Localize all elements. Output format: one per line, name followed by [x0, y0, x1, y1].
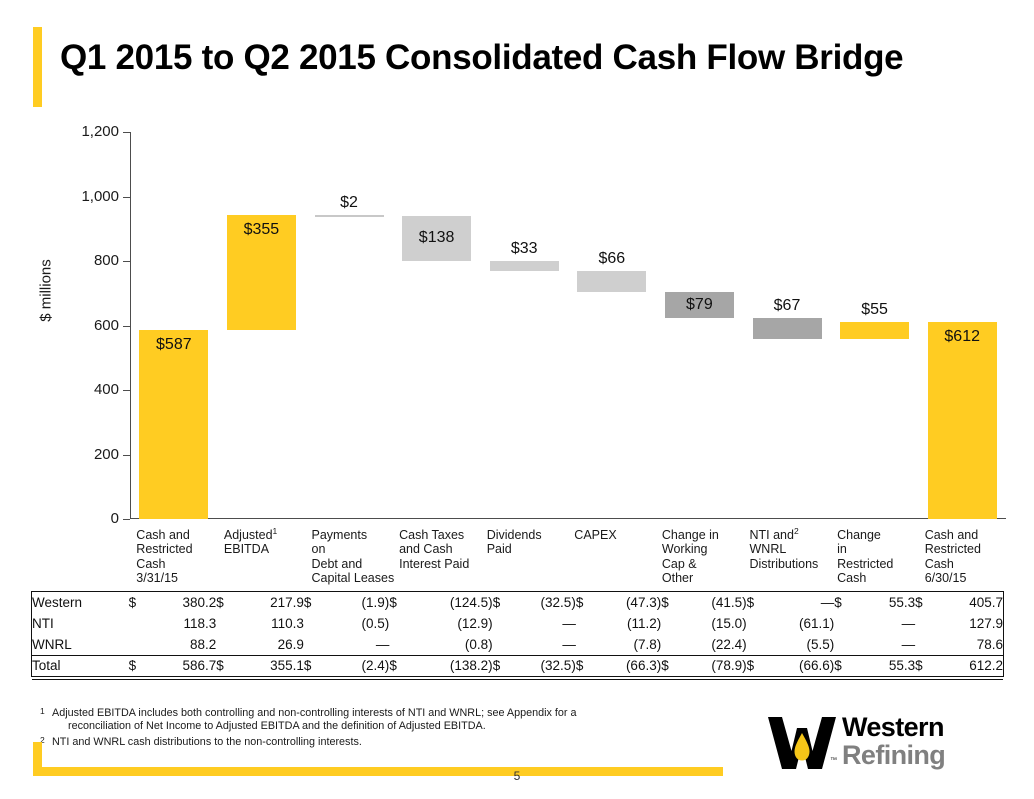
y-axis-tick — [123, 197, 130, 198]
y-axis-tick — [123, 261, 130, 262]
y-axis-tick-label: 600 — [55, 317, 119, 334]
category-label-line: Interest Paid — [399, 557, 493, 571]
category-label-line: Working — [662, 542, 756, 556]
y-axis-tick — [123, 390, 130, 391]
category-label-line: Dividends — [487, 528, 581, 542]
table-cell-value: (5.5) — [762, 634, 834, 655]
table-cell-value: 355.1 — [232, 655, 304, 676]
chart-bar-value-label: $612 — [918, 328, 1007, 346]
x-axis-category-label: PaymentsonDebt andCapital Leases — [312, 528, 406, 586]
western-w-mark-icon — [766, 715, 838, 771]
category-label-line: Other — [662, 571, 756, 585]
x-axis-category-label: Cash Taxesand CashInterest Paid — [399, 528, 493, 571]
trademark-symbol: ™ — [830, 757, 837, 764]
footnote-line: Adjusted EBITDA includes both controllin… — [52, 707, 738, 720]
table-cell-value: 612.2 — [931, 655, 1003, 676]
chart-bar-value-label: $79 — [655, 296, 744, 314]
table-cell-value: (0.8) — [405, 634, 493, 655]
table-currency-symbol — [834, 613, 850, 634]
table-currency-symbol — [747, 613, 763, 634]
table-cell-value: 405.7 — [931, 592, 1003, 613]
table-cell-value: — — [320, 634, 390, 655]
category-label-line: Paid — [487, 542, 581, 556]
footnote-line: reconciliation of Net Income to Adjusted… — [52, 720, 738, 733]
table-currency-symbol: $ — [216, 592, 232, 613]
table-total-double-rule — [32, 679, 1003, 680]
table-currency-symbol — [129, 613, 145, 634]
footnote-marker: 1 — [40, 705, 45, 718]
table-currency-symbol — [389, 634, 405, 655]
x-axis-category-label: Cash andRestrictedCash3/31/15 — [136, 528, 230, 586]
chart-bar-value-label: $66 — [567, 250, 656, 268]
y-axis-title: $ millions — [38, 231, 55, 351]
x-axis-category-label: DividendsPaid — [487, 528, 581, 557]
category-label-line: Debt and — [312, 557, 406, 571]
table-currency-symbol — [834, 634, 850, 655]
category-label-line: 6/30/15 — [925, 571, 1019, 585]
y-axis-tick — [123, 455, 130, 456]
y-axis-tick-label: 1,200 — [55, 123, 119, 140]
table-cell-value: — — [508, 634, 575, 655]
table-cell-value: (22.4) — [677, 634, 747, 655]
chart-bar-value-label: $67 — [743, 297, 832, 315]
table-cell-value: 380.2 — [144, 592, 216, 613]
y-axis-tick-label: 800 — [55, 252, 119, 269]
table-currency-symbol: $ — [216, 655, 232, 676]
table-currency-symbol: $ — [834, 655, 850, 676]
x-axis-category-label: CAPEX — [574, 528, 668, 542]
category-label-line: Change — [837, 528, 931, 542]
chart-bar — [490, 261, 559, 271]
table-currency-symbol — [915, 634, 931, 655]
table-currency-symbol: $ — [493, 655, 509, 676]
table-currency-symbol — [576, 613, 592, 634]
table-currency-symbol: $ — [304, 655, 320, 676]
y-axis-tick-label: 400 — [55, 381, 119, 398]
chart-bar — [577, 271, 646, 292]
data-table: Western$380.2$217.9$(1.9)$(124.5)$(32.5)… — [31, 591, 1004, 677]
category-label-line: Cash Taxes — [399, 528, 493, 542]
table-cell-value: (7.8) — [592, 634, 662, 655]
table-cell-value: (12.9) — [405, 613, 493, 634]
table-row-label: Western — [32, 592, 129, 613]
table-currency-symbol: $ — [915, 592, 931, 613]
table-currency-symbol: $ — [915, 655, 931, 676]
table-cell-value: (124.5) — [405, 592, 493, 613]
category-label-line: Cash — [925, 557, 1019, 571]
y-axis-tick-label: 0 — [55, 510, 119, 527]
table-cell-value: 88.2 — [144, 634, 216, 655]
table-currency-symbol: $ — [304, 592, 320, 613]
table-currency-symbol: $ — [747, 592, 763, 613]
table-cell-value: — — [850, 613, 915, 634]
table-currency-symbol — [129, 634, 145, 655]
table-currency-symbol: $ — [129, 592, 145, 613]
y-axis-tick — [123, 326, 130, 327]
table-cell-value: (138.2) — [405, 655, 493, 676]
table-row-label: WNRL — [32, 634, 129, 655]
page-title: Q1 2015 to Q2 2015 Consolidated Cash Flo… — [60, 38, 903, 78]
table-cell-value: — — [762, 592, 834, 613]
chart-bar-value-label: $2 — [305, 194, 394, 212]
category-label-line: in — [837, 542, 931, 556]
table-currency-symbol: $ — [576, 592, 592, 613]
y-axis-tick-label: 200 — [55, 446, 119, 463]
x-axis-category-label: NTI and2WNRLDistributions — [750, 528, 844, 571]
logo-wordmark: Western Refining — [842, 713, 945, 769]
table-row: WNRL88.226.9—(0.8)—(7.8)(22.4)(5.5)—78.6 — [32, 634, 1003, 655]
data-table-grid: Western$380.2$217.9$(1.9)$(124.5)$(32.5)… — [32, 592, 1003, 676]
table-row-label: NTI — [32, 613, 129, 634]
category-label-line: CAPEX — [574, 528, 668, 542]
category-label-line: Distributions — [750, 557, 844, 571]
table-currency-symbol — [576, 634, 592, 655]
table-cell-value: (61.1) — [762, 613, 834, 634]
table-currency-symbol — [493, 613, 509, 634]
table-currency-symbol — [661, 613, 677, 634]
table-cell-value: (47.3) — [592, 592, 662, 613]
category-label-line: Restricted — [136, 542, 230, 556]
table-cell-value: 55.3 — [850, 592, 915, 613]
table-cell-value: 55.3 — [850, 655, 915, 676]
category-label-line: Payments — [312, 528, 406, 542]
slide-canvas: Q1 2015 to Q2 2015 Consolidated Cash Flo… — [0, 0, 1034, 799]
table-currency-symbol — [661, 634, 677, 655]
footnote-line: NTI and WNRL cash distributions to the n… — [52, 736, 738, 749]
y-axis-tick — [123, 519, 130, 520]
chart-bar — [840, 322, 909, 340]
category-label-line: 3/31/15 — [136, 571, 230, 585]
category-label-line: EBITDA — [224, 542, 318, 556]
table-cell-value: — — [508, 613, 575, 634]
table-currency-symbol: $ — [747, 655, 763, 676]
category-label-line: WNRL — [750, 542, 844, 556]
footnotes: 1Adjusted EBITDA includes both controlli… — [38, 707, 738, 751]
table-currency-symbol — [915, 613, 931, 634]
table-currency-symbol: $ — [493, 592, 509, 613]
footnote: 1Adjusted EBITDA includes both controlli… — [38, 707, 738, 734]
table-currency-symbol: $ — [129, 655, 145, 676]
x-axis-category-label: Adjusted1EBITDA — [224, 528, 318, 557]
category-label-superscript: 2 — [794, 526, 799, 536]
table-cell-value: 26.9 — [232, 634, 304, 655]
x-axis-category-label: Change inWorkingCap &Other — [662, 528, 756, 586]
chart-bar-value-label: $355 — [217, 221, 306, 239]
category-label-line: Cash — [136, 557, 230, 571]
chart-plot-area: $587$355$2$138$33$66$79$67$55$612 — [130, 132, 1006, 519]
y-axis-title-wrap: $ millions — [36, 238, 56, 358]
chart-bar-value-label: $138 — [392, 229, 481, 247]
title-accent-bar — [33, 27, 42, 107]
table-row: Western$380.2$217.9$(1.9)$(124.5)$(32.5)… — [32, 592, 1003, 613]
table-currency-symbol — [216, 634, 232, 655]
category-label-line: Capital Leases — [312, 571, 406, 585]
table-currency-symbol — [493, 634, 509, 655]
table-cell-value: (78.9) — [677, 655, 747, 676]
footnote: 2NTI and WNRL cash distributions to the … — [38, 736, 738, 749]
chart-bar — [753, 318, 822, 339]
table-cell-value: (66.6) — [762, 655, 834, 676]
data-table-body: Western$380.2$217.9$(1.9)$(124.5)$(32.5)… — [32, 592, 1003, 676]
category-label-line: Restricted — [837, 557, 931, 571]
table-currency-symbol: $ — [661, 655, 677, 676]
category-label-line: Restricted — [925, 542, 1019, 556]
chart-bar-value-label: $55 — [830, 301, 919, 319]
table-currency-symbol — [304, 613, 320, 634]
table-cell-value: 217.9 — [232, 592, 304, 613]
table-currency-symbol: $ — [389, 592, 405, 613]
table-row-label: Total — [32, 655, 129, 676]
table-currency-symbol — [216, 613, 232, 634]
category-label-line: NTI and2 — [750, 528, 844, 542]
table-cell-value: (1.9) — [320, 592, 390, 613]
category-label-line: Cash and — [136, 528, 230, 542]
table-cell-value: (32.5) — [508, 655, 575, 676]
category-label-line: Cash and — [925, 528, 1019, 542]
table-cell-value: (15.0) — [677, 613, 747, 634]
table-cell-value: (0.5) — [320, 613, 390, 634]
table-cell-value: 586.7 — [144, 655, 216, 676]
chart-bar-value-label: $33 — [480, 240, 569, 258]
table-currency-symbol: $ — [576, 655, 592, 676]
table-cell-value: 78.6 — [931, 634, 1003, 655]
table-currency-symbol: $ — [834, 592, 850, 613]
x-axis-category-label: Cash andRestrictedCash6/30/15 — [925, 528, 1019, 586]
table-currency-symbol: $ — [661, 592, 677, 613]
x-axis-category-label: ChangeinRestrictedCash — [837, 528, 931, 586]
table-cell-value: (2.4) — [320, 655, 390, 676]
table-cell-value: 127.9 — [931, 613, 1003, 634]
table-cell-value: 110.3 — [232, 613, 304, 634]
category-label-line: on — [312, 542, 406, 556]
chart-bar — [139, 330, 208, 519]
chart-bar — [928, 322, 997, 519]
category-label-line: Change in — [662, 528, 756, 542]
y-axis-tick — [123, 132, 130, 133]
table-cell-value: (11.2) — [592, 613, 662, 634]
chart-bar-value-label: $587 — [129, 336, 218, 354]
company-logo: Western Refining ™ — [766, 713, 1008, 775]
table-row: Total$586.7$355.1$(2.4)$(138.2)$(32.5)$(… — [32, 655, 1003, 676]
category-label-line: Cash — [837, 571, 931, 585]
table-cell-value: 118.3 — [144, 613, 216, 634]
table-currency-symbol — [389, 613, 405, 634]
table-currency-symbol: $ — [389, 655, 405, 676]
category-label-line: Adjusted1 — [224, 528, 318, 542]
table-row: NTI118.3110.3(0.5)(12.9)—(11.2)(15.0)(61… — [32, 613, 1003, 634]
table-cell-value: (32.5) — [508, 592, 575, 613]
category-label-line: and Cash — [399, 542, 493, 556]
table-cell-value: — — [850, 634, 915, 655]
table-currency-symbol — [747, 634, 763, 655]
logo-line-western: Western — [842, 713, 945, 741]
table-cell-value: (41.5) — [677, 592, 747, 613]
category-label-line: Cap & — [662, 557, 756, 571]
category-label-superscript: 1 — [273, 526, 278, 536]
table-cell-value: (66.3) — [592, 655, 662, 676]
table-currency-symbol — [304, 634, 320, 655]
y-axis-tick-label: 1,000 — [55, 188, 119, 205]
chart-bar — [315, 215, 384, 217]
logo-line-refining: Refining — [842, 741, 945, 769]
